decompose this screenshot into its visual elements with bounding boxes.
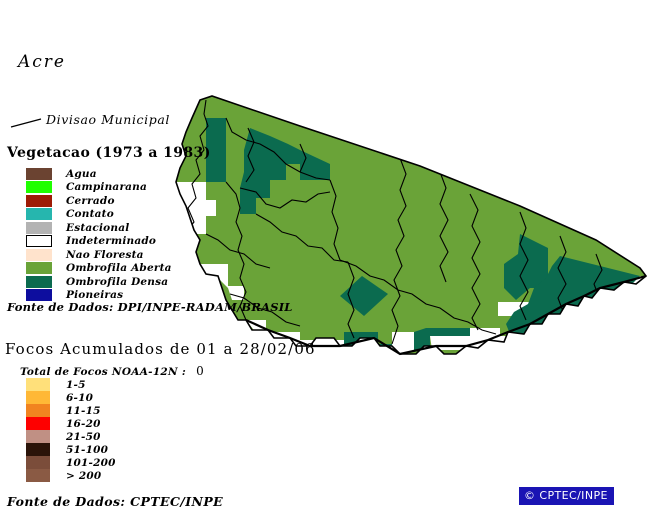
- vegetation-legend-title: Vegetacao (1973 a 1983): [7, 145, 211, 161]
- legend-label-indeterminado: Indeterminado: [66, 235, 156, 247]
- focos-label-16-20: 16-20: [66, 418, 101, 430]
- swatch-agua: [26, 168, 52, 180]
- vegetation-data-source: Fonte de Dados: DPI/INPE-RADAM/BRASIL: [7, 300, 293, 314]
- legend-item-agua: Agua: [26, 167, 172, 181]
- map-page: Acre Divisao Municipal Vegetacao (1973 a…: [0, 0, 648, 518]
- legend-label-estacional: Estacional: [66, 222, 129, 234]
- copyright-icon: ©: [524, 490, 535, 501]
- swatch-cerrado: [26, 195, 52, 207]
- legend-label-nao-floresta: Nao Floresta: [66, 249, 144, 261]
- legend-item-indeterminado: Indeterminado: [26, 235, 172, 249]
- focos-label-over-200: > 200: [66, 470, 101, 482]
- divisao-municipal-label: Divisao Municipal: [46, 112, 170, 127]
- legend-item-estacional: Estacional: [26, 221, 172, 235]
- legend-label-contato: Contato: [66, 208, 114, 220]
- focos-item-51-100: 51-100: [26, 443, 116, 456]
- vegetation-area-ombrofila-aberta: [176, 96, 646, 354]
- focos-item-1-5: 1-5: [26, 378, 116, 391]
- swatch-focos-11-15: [26, 404, 50, 417]
- swatch-indeterminado: [26, 235, 52, 247]
- focos-item-over-200: > 200: [26, 469, 116, 482]
- total-focos-label: Total de Focos NOAA-12N :: [20, 366, 186, 378]
- swatch-focos-6-10: [26, 391, 50, 404]
- page-title: Acre: [18, 52, 66, 72]
- focos-item-6-10: 6-10: [26, 391, 116, 404]
- focos-title: Focos Acumulados de 01 a 28/02/06: [5, 340, 316, 358]
- focos-item-16-20: 16-20: [26, 417, 116, 430]
- legend-label-campinarana: Campinarana: [66, 181, 147, 193]
- swatch-ombrofila-aberta: [26, 262, 52, 274]
- swatch-nao-floresta: [26, 249, 52, 261]
- map-landmass: [176, 96, 646, 354]
- focos-label-11-15: 11-15: [66, 405, 101, 417]
- swatch-campinarana: [26, 181, 52, 193]
- legend-label-ombrofila-densa: Ombrofila Densa: [66, 276, 168, 288]
- vegetation-legend: Agua Campinarana Cerrado Contato Estacio…: [26, 167, 172, 302]
- legend-item-campinarana: Campinarana: [26, 181, 172, 195]
- total-focos-line: Total de Focos NOAA-12N :0: [20, 364, 204, 378]
- focos-label-51-100: 51-100: [66, 444, 108, 456]
- focos-legend: 1-5 6-10 11-15 16-20 21-50 51-100 101-20…: [26, 378, 116, 482]
- swatch-focos-101-200: [26, 456, 50, 469]
- swatch-focos-51-100: [26, 443, 50, 456]
- swatch-focos-21-50: [26, 430, 50, 443]
- focos-label-1-5: 1-5: [66, 379, 86, 391]
- cptec-inpe-logo: © CPTEC/INPE: [519, 487, 614, 505]
- swatch-focos-over-200: [26, 469, 50, 482]
- swatch-focos-1-5: [26, 378, 50, 391]
- legend-item-contato: Contato: [26, 208, 172, 222]
- focos-data-source: Fonte de Dados: CPTEC/INPE: [7, 494, 223, 509]
- total-focos-value: 0: [196, 364, 204, 378]
- focos-label-101-200: 101-200: [66, 457, 116, 469]
- focos-label-21-50: 21-50: [66, 431, 101, 443]
- legend-item-ombrofila-aberta: Ombrofila Aberta: [26, 262, 172, 276]
- legend-label-ombrofila-aberta: Ombrofila Aberta: [66, 262, 172, 274]
- legend-item-nao-floresta: Nao Floresta: [26, 248, 172, 262]
- swatch-focos-16-20: [26, 417, 50, 430]
- swatch-ombrofila-densa: [26, 276, 52, 288]
- cptec-inpe-logo-text: CPTEC/INPE: [539, 489, 607, 502]
- legend-item-cerrado: Cerrado: [26, 194, 172, 208]
- focos-item-21-50: 21-50: [26, 430, 116, 443]
- focos-item-101-200: 101-200: [26, 456, 116, 469]
- divisao-municipal-line-icon: [10, 118, 42, 128]
- focos-label-6-10: 6-10: [66, 392, 93, 404]
- legend-item-ombrofila-densa: Ombrofila Densa: [26, 275, 172, 289]
- focos-item-11-15: 11-15: [26, 404, 116, 417]
- swatch-contato: [26, 208, 52, 220]
- legend-label-agua: Agua: [66, 168, 97, 180]
- swatch-estacional: [26, 222, 52, 234]
- legend-label-cerrado: Cerrado: [66, 195, 115, 207]
